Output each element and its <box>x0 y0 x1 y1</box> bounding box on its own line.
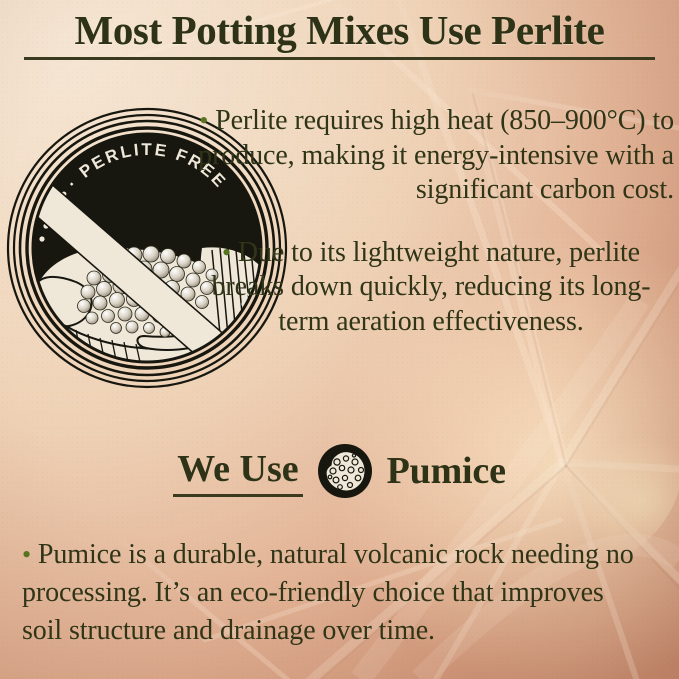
infographic-poster: Most Potting Mixes Use Perlite <box>0 0 679 679</box>
bullet-perlite-breakdown: • Due to its lightweight nature, perlite… <box>188 236 674 340</box>
bullet-dot: • <box>199 106 208 135</box>
bullet-dot: • <box>22 540 31 569</box>
pumice-benefits-list: • Pumice is a durable, natural volcanic … <box>22 508 642 678</box>
poster-title: Most Potting Mixes Use Perlite <box>0 6 679 54</box>
bullet-pumice-benefit: • Pumice is a durable, natural volcanic … <box>22 536 642 650</box>
we-use-row: We Use Pumice <box>0 440 679 502</box>
perlite-drawbacks-list: • Perlite requires high heat (850–900°C)… <box>188 76 674 367</box>
bullet-perlite-heat: • Perlite requires high heat (850–900°C)… <box>188 104 674 208</box>
poster-title-text: Most Potting Mixes Use Perlite <box>75 6 605 54</box>
pumice-word: Pumice <box>387 448 506 494</box>
title-underline-rule <box>24 57 655 60</box>
pumice-rock-icon <box>317 443 373 499</box>
we-use-label: We Use <box>173 446 302 496</box>
bullet-dot: • <box>222 238 231 267</box>
